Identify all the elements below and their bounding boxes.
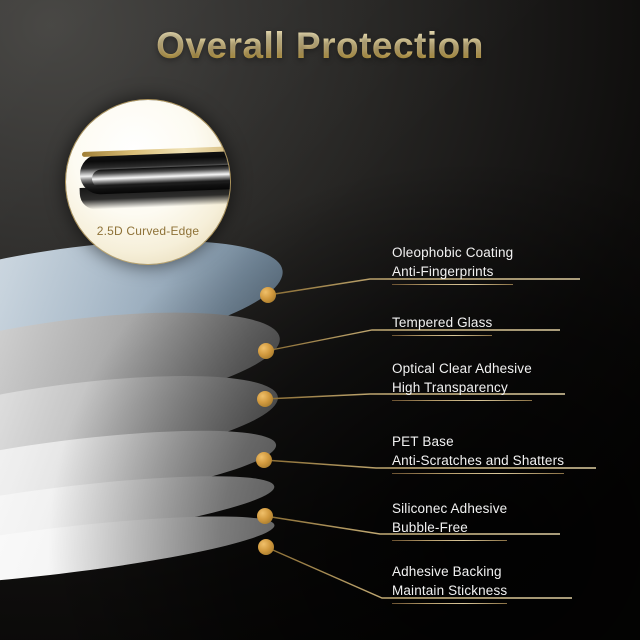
callout-optical-clear-adhesive: Optical Clear Adhesive High Transparency [392,359,532,401]
callout-underline [392,335,492,336]
callout-line-1: Optical Clear Adhesive [392,359,532,378]
callout-underline [392,284,513,285]
curved-edge-caption: 2.5D Curved-Edge [66,224,230,238]
callout-underline [392,540,507,541]
callout-underline [392,603,507,604]
product-infographic: Overall Protection 2.5D Curved-Edge [0,0,640,640]
callout-oleophobic-coating: Oleophobic Coating Anti-Fingerprints [392,243,513,285]
callout-line-1: Siliconec Adhesive [392,499,507,518]
callout-line-2: High Transparency [392,378,532,397]
callout-line-2: Anti-Fingerprints [392,262,513,281]
callout-line-2: Anti-Scratches and Shatters [392,451,564,470]
callout-line-1: Oleophobic Coating [392,243,513,262]
screen-protector-layer-stack [0,250,300,590]
callout-underline [392,473,564,474]
callout-line-2: Bubble-Free [392,518,507,537]
callout-underline [392,400,532,401]
callout-line-1: Adhesive Backing [392,562,507,581]
callout-line-1: Tempered Glass [392,313,492,332]
callout-tempered-glass: Tempered Glass [392,313,492,336]
callout-pet-base: PET Base Anti-Scratches and Shatters [392,432,564,474]
page-title: Overall Protection [0,26,640,67]
callout-adhesive-backing: Adhesive Backing Maintain Stickness [392,562,507,604]
callout-line-2: Maintain Stickness [392,581,507,600]
callout-siliconec-adhesive: Siliconec Adhesive Bubble-Free [392,499,507,541]
curved-edge-magnifier: 2.5D Curved-Edge [66,100,230,264]
callout-line-1: PET Base [392,432,564,451]
